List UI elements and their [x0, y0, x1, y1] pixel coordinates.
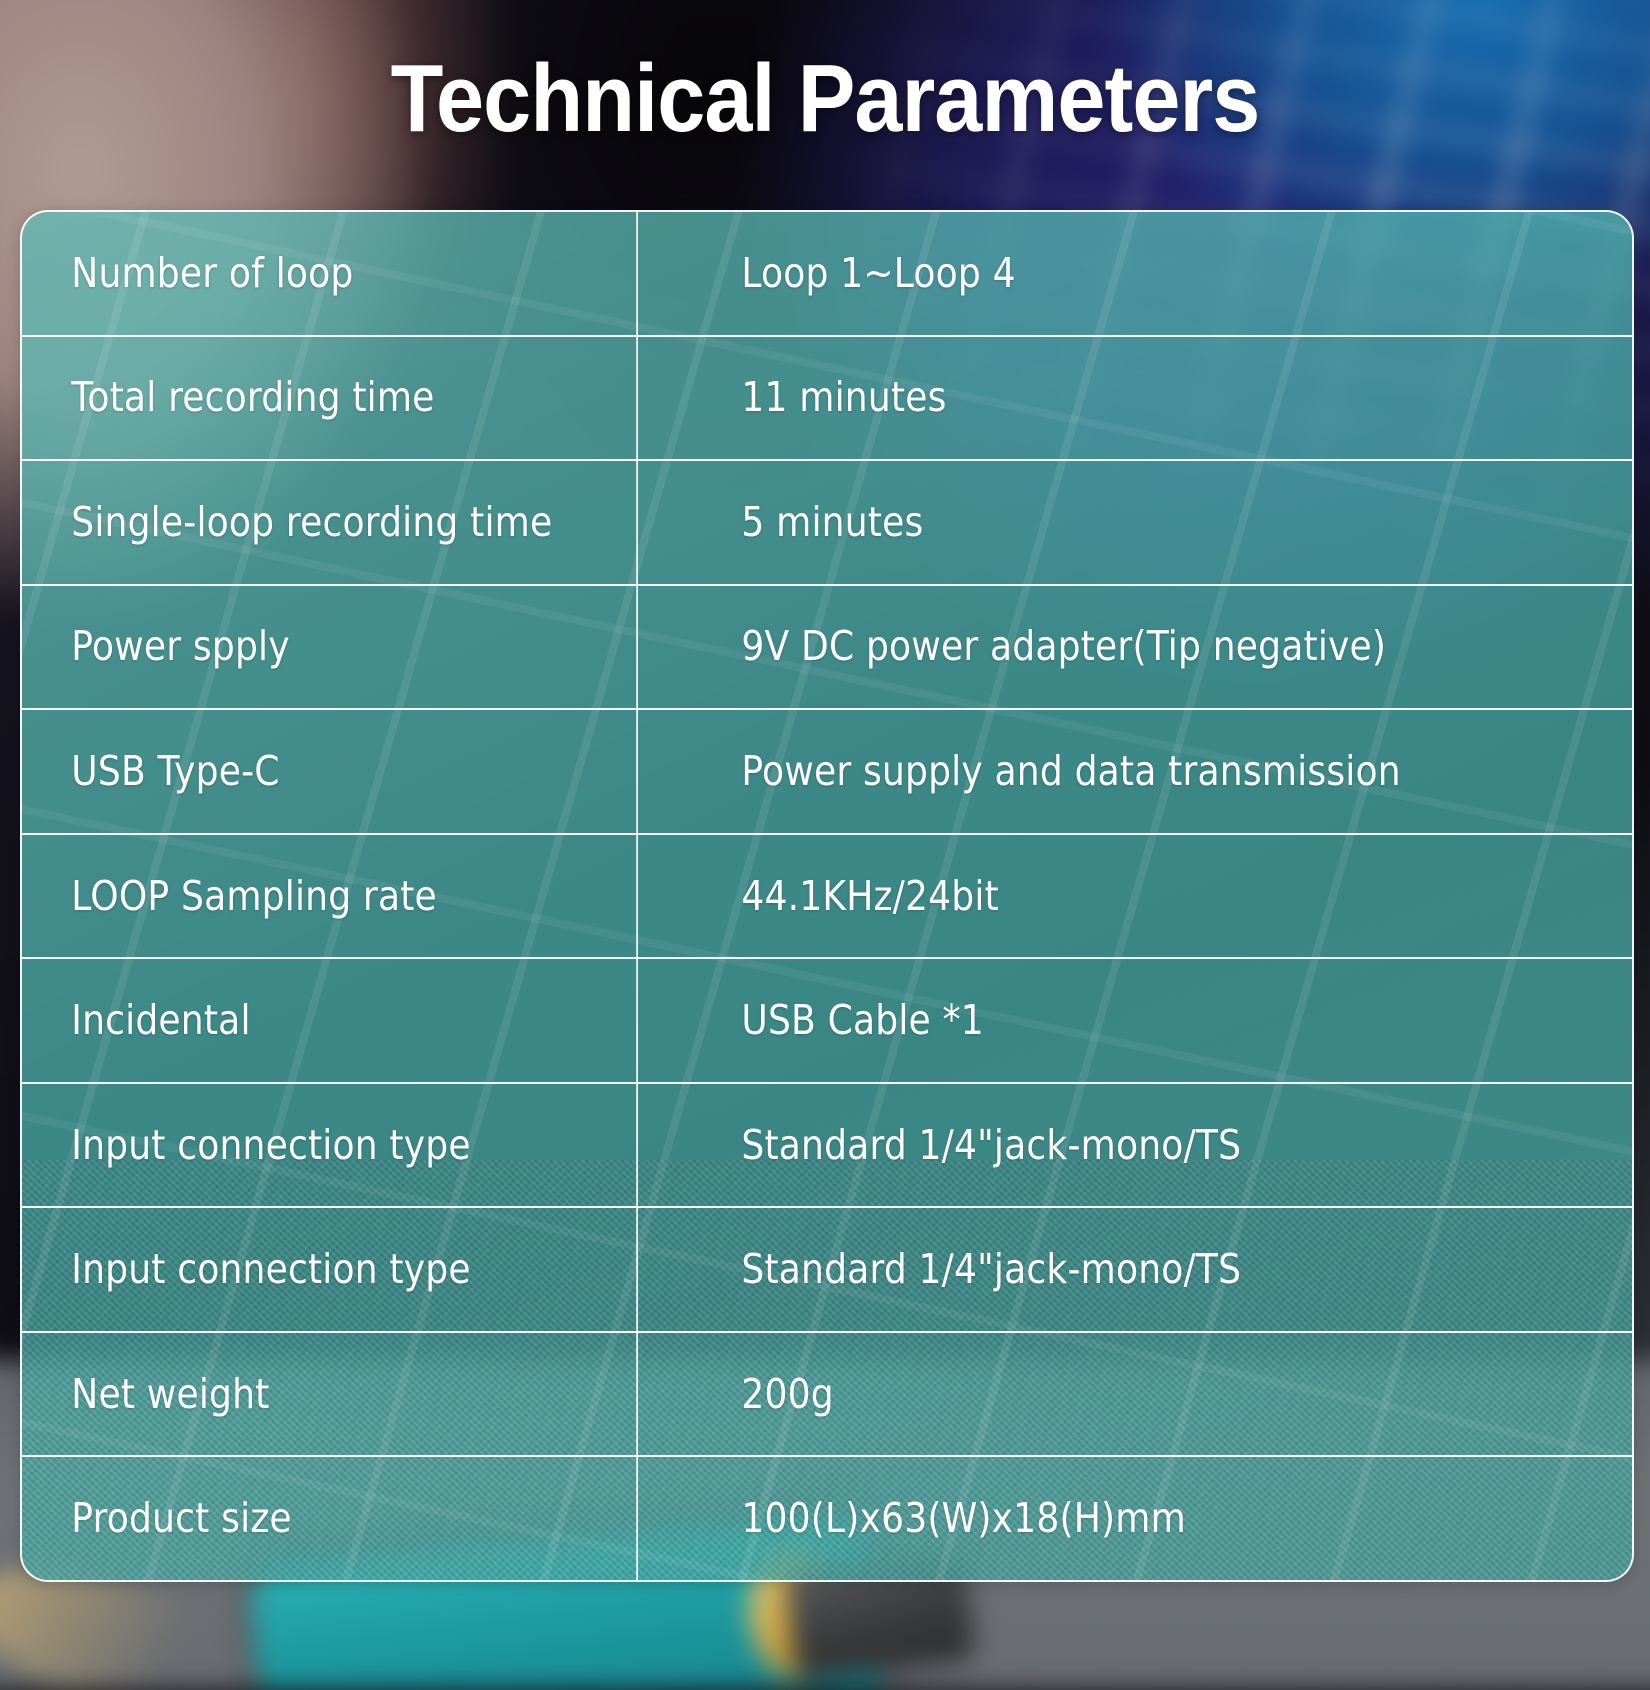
spec-value-cell: 5 minutes: [722, 461, 1523, 584]
table-row: Input connection typeStandard 1/4"jack-m…: [22, 1208, 1632, 1333]
spec-key-cell: Number of loop: [22, 212, 638, 335]
spec-value-cell: 9V DC power adapter(Tip negative): [722, 586, 1523, 709]
technical-parameters-panel: Number of loopLoop 1~Loop 4Total recordi…: [20, 210, 1634, 1582]
spec-value-cell: Power supply and data transmission: [722, 710, 1523, 833]
table-row: Product size100(L)x63(W)x18(H)mm: [22, 1457, 1632, 1580]
spec-value-cell: 11 minutes: [722, 337, 1523, 460]
spec-key-cell: USB Type-C: [22, 710, 638, 833]
table-row: USB Type-CPower supply and data transmis…: [22, 710, 1632, 835]
spec-key-cell: Product size: [22, 1457, 638, 1580]
spec-value-cell: USB Cable *1: [722, 959, 1523, 1082]
spec-value-cell: Standard 1/4"jack-mono/TS: [722, 1208, 1523, 1331]
spec-key-cell: Net weight: [22, 1333, 638, 1456]
table-row: Total recording time11 minutes: [22, 337, 1632, 462]
table-row: IncidentalUSB Cable *1: [22, 959, 1632, 1084]
spec-key-cell: Input connection type: [22, 1208, 638, 1331]
spec-key-cell: Incidental: [22, 959, 638, 1082]
table-row: Power spply9V DC power adapter(Tip negat…: [22, 586, 1632, 711]
spec-value-cell: 100(L)x63(W)x18(H)mm: [722, 1457, 1523, 1580]
spec-key-cell: Single-loop recording time: [22, 461, 638, 584]
spec-value-cell: Loop 1~Loop 4: [722, 212, 1523, 335]
table-row: Net weight200g: [22, 1333, 1632, 1458]
spec-key-cell: Total recording time: [22, 337, 638, 460]
spec-value-cell: 44.1KHz/24bit: [722, 835, 1523, 958]
spec-key-cell: Power spply: [22, 586, 638, 709]
spec-table: Number of loopLoop 1~Loop 4Total recordi…: [22, 212, 1632, 1580]
spec-key-cell: LOOP Sampling rate: [22, 835, 638, 958]
table-row: LOOP Sampling rate44.1KHz/24bit: [22, 835, 1632, 960]
spec-key-cell: Input connection type: [22, 1084, 638, 1207]
table-row: Input connection typeStandard 1/4"jack-m…: [22, 1084, 1632, 1209]
table-row: Single-loop recording time5 minutes: [22, 461, 1632, 586]
page-title: Technical Parameters: [83, 48, 1568, 150]
spec-value-cell: 200g: [722, 1333, 1523, 1456]
table-row: Number of loopLoop 1~Loop 4: [22, 212, 1632, 337]
spec-value-cell: Standard 1/4"jack-mono/TS: [722, 1084, 1523, 1207]
